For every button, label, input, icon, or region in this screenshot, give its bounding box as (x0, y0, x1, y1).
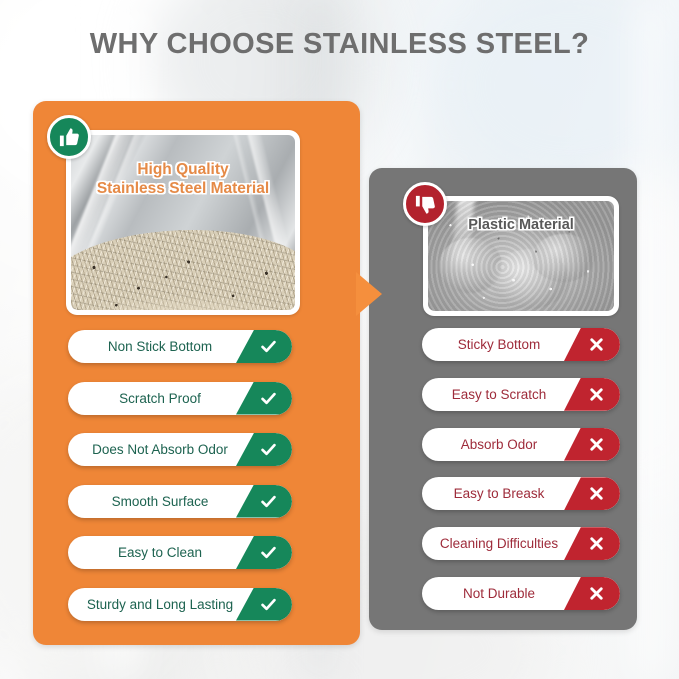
con-feature-pill: Easy to Scratch (422, 378, 620, 411)
pro-feature-pill: Easy to Clean (68, 536, 292, 569)
pros-photo-frame: High Quality Stainless Steel Material (66, 130, 300, 315)
cross-icon (564, 428, 620, 461)
pro-feature-pill: Non Stick Bottom (68, 330, 292, 363)
con-feature-pill: Not Durable (422, 577, 620, 610)
thumbs-up-icon (47, 115, 91, 159)
plastic-speckle-texture (428, 201, 614, 311)
arrow-right-icon (356, 272, 382, 316)
pro-feature-pill: Does Not Absorb Odor (68, 433, 292, 466)
page-title: WHY CHOOSE STAINLESS STEEL? (0, 28, 679, 61)
cross-icon (564, 477, 620, 510)
litter-pellets (71, 230, 295, 311)
cross-icon (564, 527, 620, 560)
pellet-specks (71, 230, 295, 311)
cross-icon (564, 328, 620, 361)
stainless-steel-photo: High Quality Stainless Steel Material (71, 135, 295, 310)
con-feature-pill: Absorb Odor (422, 428, 620, 461)
con-feature-pill: Easy to Breask (422, 477, 620, 510)
cross-icon (564, 378, 620, 411)
thumbs-down-icon (403, 182, 447, 226)
cross-icon (564, 577, 620, 610)
cons-photo-frame: Plastic Material (423, 196, 619, 316)
con-feature-pill: Cleaning Difficulties (422, 527, 620, 560)
pro-feature-pill: Scratch Proof (68, 382, 292, 415)
pro-feature-pill: Sturdy and Long Lasting (68, 588, 292, 621)
pro-feature-pill: Smooth Surface (68, 485, 292, 518)
plastic-photo: Plastic Material (428, 201, 614, 311)
con-feature-pill: Sticky Bottom (422, 328, 620, 361)
infographic-canvas: WHY CHOOSE STAINLESS STEEL? High Quality… (0, 0, 679, 679)
